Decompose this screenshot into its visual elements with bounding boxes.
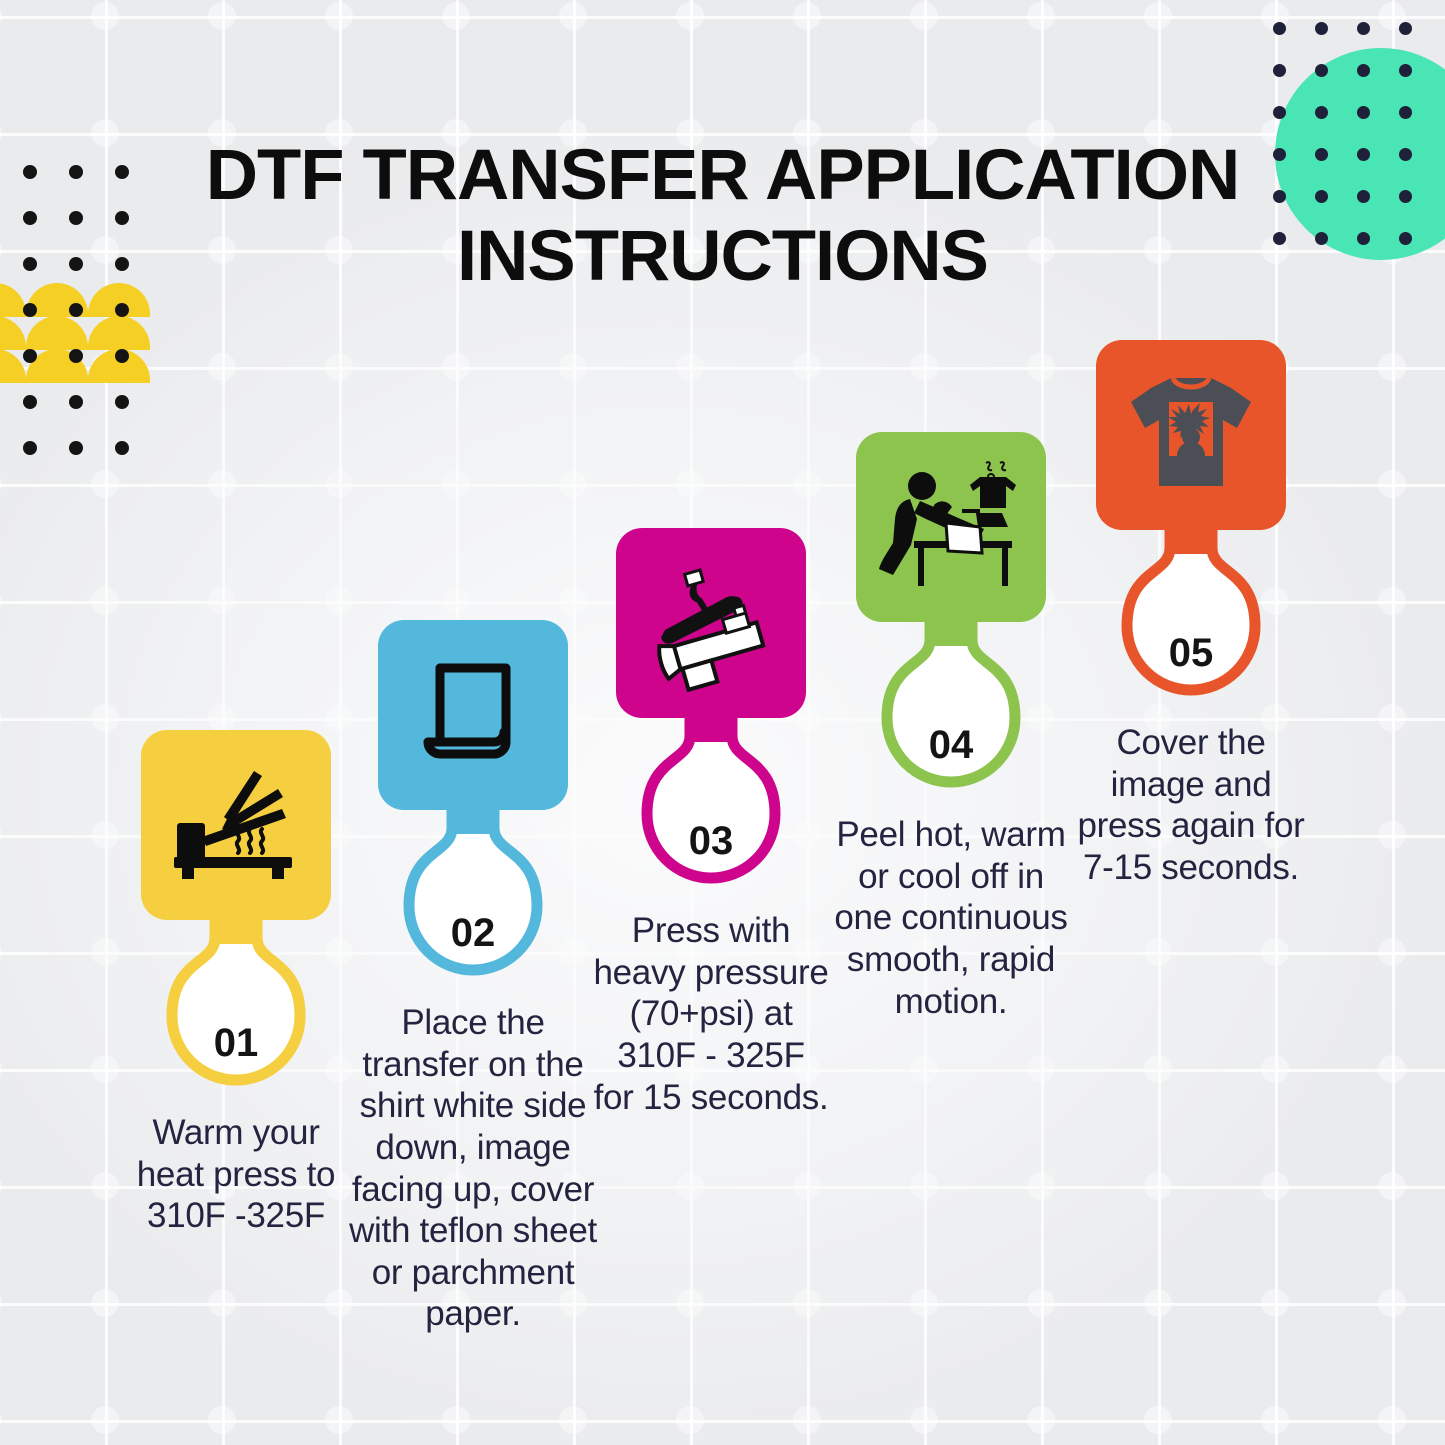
step-03-number: 03 — [595, 819, 827, 864]
step-04-number: 04 — [835, 723, 1067, 768]
step-02-text: Place the transfer on the shirt white si… — [349, 1002, 597, 1335]
step-02-connector: 02 — [357, 806, 589, 996]
step-04-connector: 04 — [835, 618, 1067, 808]
step-03-text: Press with heavy pressure (70+psi) at 31… — [593, 910, 829, 1118]
peel-transfer-person-icon — [876, 461, 1026, 593]
step-02-card[interactable] — [378, 620, 568, 810]
printed-tshirt-icon — [1121, 370, 1261, 500]
step-01-connector: 01 — [120, 916, 352, 1106]
steps-container: 01 Warm your heat press to 310F -325F 02 — [0, 0, 1445, 1445]
step-01[interactable]: 01 Warm your heat press to 310F -325F — [120, 730, 352, 1237]
step-03-card[interactable] — [616, 528, 806, 718]
heat-press-open-icon — [166, 765, 306, 885]
step-01-number: 01 — [120, 1021, 352, 1066]
step-05-text: Cover the image and press again for 7-15… — [1076, 722, 1306, 889]
step-04-text: Peel hot, warm or cool off in one contin… — [833, 814, 1069, 1022]
step-02-number: 02 — [357, 911, 589, 956]
step-05-connector: 05 — [1075, 526, 1307, 716]
step-01-card[interactable] — [141, 730, 331, 920]
transfer-sheet-icon — [414, 656, 532, 774]
step-02[interactable]: 02 Place the transfer on the shirt white… — [357, 620, 589, 1335]
step-03-connector: 03 — [595, 714, 827, 904]
step-03[interactable]: 03 Press with heavy pressure (70+psi) at… — [595, 528, 827, 1118]
step-05-number: 05 — [1075, 631, 1307, 676]
step-05-card[interactable] — [1096, 340, 1286, 530]
step-01-text: Warm your heat press to 310F -325F — [121, 1112, 351, 1237]
step-05[interactable]: 05 Cover the image and press again for 7… — [1075, 340, 1307, 889]
step-04[interactable]: 04 Peel hot, warm or cool off in one con… — [835, 432, 1067, 1022]
heat-press-machine-icon — [641, 553, 781, 693]
step-04-card[interactable] — [856, 432, 1046, 622]
